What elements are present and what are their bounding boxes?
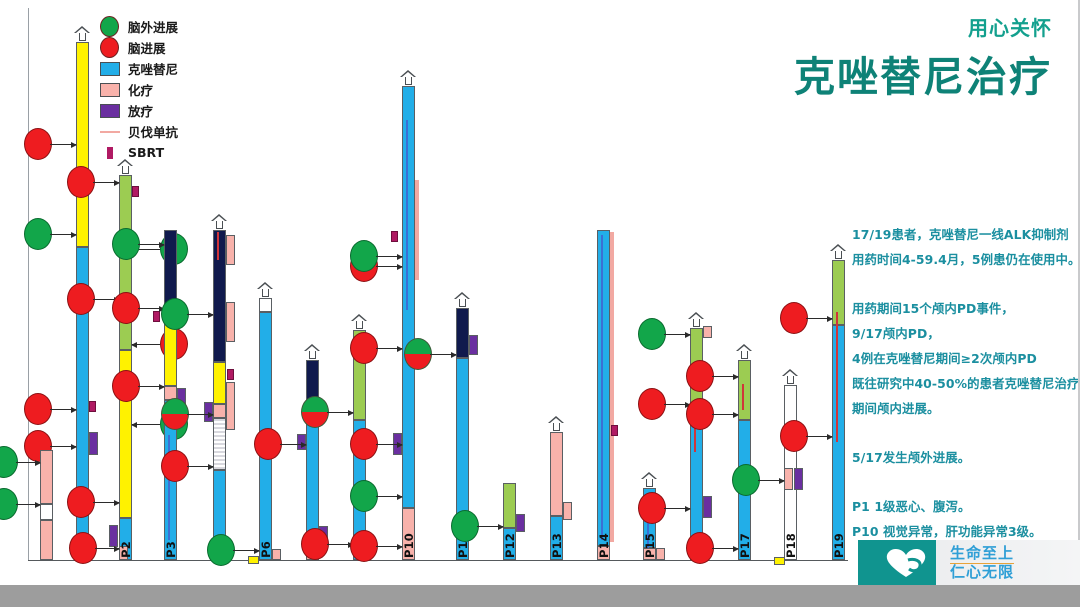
marker-connector [376,256,402,257]
bar-segment-olive [832,260,845,325]
side-chip-purple [89,432,98,455]
progression-marker-red[interactable] [67,283,95,315]
title-block: 用心关怀 克唑替尼治疗 [794,12,1052,103]
note-block: 5/17发生颅外进展。 [852,445,1080,470]
side-chip-pink [226,382,235,430]
marker-connector [50,409,76,410]
marker-connector [376,266,402,267]
progression-marker-red[interactable] [67,486,95,518]
ongoing-arrow-icon [641,472,658,487]
legend-label: SBRT [128,145,164,160]
bar-segment-white [40,504,53,520]
ongoing-arrow-icon [304,344,321,359]
x-axis-tick-label: P12 [503,533,516,558]
bar-segment-pink [40,450,53,504]
sbrt-marker-icon [611,425,618,436]
cyan-swatch-icon [100,62,128,76]
bar-segment-white [259,298,272,312]
note-line: P1 1级恶心、腹泻。 [852,494,1080,519]
bar-segment-pink [213,404,226,418]
slide-title: 克唑替尼治疗 [794,43,1052,103]
progression-marker-red[interactable] [112,370,140,402]
bar-segment-cyan [597,230,610,546]
side-chip-pink [656,548,665,560]
note-gap [852,272,1080,296]
side-chip-pink [703,326,712,338]
progression-marker-red[interactable] [254,428,282,460]
logo-text: 生命至上 仁心无限 [950,545,1014,581]
legend-label: 放疗 [128,101,153,120]
progression-marker-half[interactable] [404,338,432,370]
ongoing-arrow-icon [351,314,368,329]
progression-marker-green[interactable] [350,240,378,272]
legend-item: SBRT [100,142,230,163]
side-chip-thinpink [415,180,419,280]
marker-connector [16,462,40,463]
note-block: P1 1级恶心、腹泻。P10 视觉异常，肝功能异常3级。 [852,494,1080,544]
progression-marker-green[interactable] [350,480,378,512]
progression-marker-red[interactable] [780,302,808,334]
marker-connector [664,334,690,335]
progression-marker-half[interactable] [301,396,329,428]
note-block: 17/19患者，克唑替尼一线ALK抑制剂用药时间4-59.4月，5例患仍在使用中… [852,222,1080,272]
note-line: 既往研究中40-50%的患者克唑替尼治疗 [852,371,1080,396]
heart-swan-glyph [884,547,928,578]
marker-connector [664,404,690,405]
bar-segment-cyan [306,420,319,532]
bar-segment-stripe [213,418,226,470]
note-line: 用药期间15个颅内PD事件， [852,296,1080,321]
marker-connector [806,318,832,319]
marker-connector [93,182,119,183]
progression-marker-green[interactable] [112,228,140,260]
treatment-bar[interactable] [164,230,177,560]
yellow-marker-icon [248,556,259,564]
marker-connector [187,466,213,467]
logo-line-1: 生命至上 [950,545,1014,564]
green-circle-icon [100,16,128,37]
marker-connector [187,414,213,415]
marker-connector [187,314,213,315]
progression-marker-green[interactable] [638,318,666,350]
ongoing-arrow-icon [548,416,565,431]
bar-segment-navy [456,308,469,358]
treatment-bar[interactable] [738,360,751,560]
note-gap [852,421,1080,445]
x-axis-tick-label: P17 [738,533,751,558]
marker-connector [93,502,119,503]
side-chip-pink [563,502,572,520]
progression-marker-green[interactable] [732,464,760,496]
marker-connector [758,480,784,481]
x-axis-tick-label: P13 [550,533,563,558]
note-line: 4例在克唑替尼期间≥2次颅内PD [852,346,1080,371]
ongoing-arrow-icon [400,70,417,85]
progression-marker-red[interactable] [350,428,378,460]
side-chip-blueline [406,120,408,310]
side-chip-thinpink [610,232,614,542]
sbrt-marker-icon [227,369,234,380]
progression-marker-green[interactable] [24,218,52,250]
sbrt-marker-icon [132,186,139,197]
x-axis-tick-label: P14 [597,533,610,558]
logo-heart-icon [858,540,936,585]
marker-connector [16,504,40,505]
annotation-notes: 17/19患者，克唑替尼一线ALK抑制剂用药时间4-59.4月，5例患仍在使用中… [852,222,1080,544]
legend-item: 脑进展 [100,37,230,58]
marker-connector [376,444,402,445]
progression-marker-red[interactable] [67,166,95,198]
side-chip-redline [217,232,219,260]
note-line: 用药时间4-59.4月，5例患仍在使用中。 [852,247,1080,272]
legend-item: 克唑替尼 [100,58,230,79]
side-chip-pink [272,549,281,560]
footer-bar [0,585,1080,607]
note-line: 17/19患者，克唑替尼一线ALK抑制剂 [852,222,1080,247]
marker-connector [138,244,164,245]
x-axis-tick-label: P6 [259,541,272,558]
progression-marker-red[interactable] [686,398,714,430]
progression-marker-red[interactable] [161,450,189,482]
bar-segment-yellow [213,362,226,404]
legend-item: 化疗 [100,79,230,100]
sbrt-marker-icon [391,231,398,242]
progression-marker-red[interactable] [686,532,714,564]
progression-marker-red[interactable] [638,388,666,420]
purple-swatch-icon [100,104,128,118]
marker-connector [430,354,456,355]
legend-label: 脑外进展 [128,17,178,36]
treatment-bar[interactable] [597,230,610,560]
marker-connector [138,308,164,309]
treatment-bar[interactable] [213,230,226,560]
treatment-bar[interactable] [40,450,53,560]
bar-segment-cyan [832,325,845,560]
marker-connector [712,548,738,549]
ongoing-arrow-icon [74,26,91,41]
x-axis-tick-label: P10 [402,533,415,558]
side-chip-purple [703,496,712,518]
presentation-slide: P1P2P3P5P6P7P8P10P11P12P13P14P15P16P17P1… [0,0,1080,607]
marker-connector [132,424,160,425]
marker-connector [50,446,76,447]
marker-connector [327,412,353,413]
bar-segment-olive [738,360,751,420]
x-axis-line [28,560,848,561]
marker-connector [280,444,306,445]
progression-marker-green[interactable] [451,510,479,542]
sbrt-marker-icon [100,147,128,159]
progression-marker-red[interactable] [24,128,52,160]
marker-connector [376,546,402,547]
side-chip-purple [794,468,803,490]
marker-connector [664,508,690,509]
ongoing-arrow-icon [830,244,847,259]
legend-item: 脑外进展 [100,16,230,37]
x-axis-tick-label: P15 [643,533,656,558]
progression-marker-red[interactable] [350,332,378,364]
side-chip-redline [836,312,838,442]
sbrt-marker-icon [89,401,96,412]
side-chip-pink [226,302,235,342]
x-axis-tick-label: P2 [119,541,132,558]
brand-logo: 生命至上 仁心无限 [858,540,1080,585]
bar-segment-pink [550,432,563,516]
marker-connector [50,144,76,145]
marker-connector [95,548,119,549]
yellow-marker-icon [774,557,785,565]
slide-subtitle: 用心关怀 [794,12,1052,41]
bar-segment-navy [213,230,226,362]
side-chip-blueline [601,235,603,540]
side-chip-redline [742,384,744,410]
progression-marker-red[interactable] [686,360,714,392]
sbrt-marker-icon [153,311,160,322]
progression-marker-red[interactable] [24,393,52,425]
marker-connector [50,234,76,235]
progression-marker-red[interactable] [112,292,140,324]
red-circle-icon [100,37,128,58]
note-block: 用药期间15个颅内PD事件，9/17颅内PD，4例在克唑替尼期间≥2次颅内PD既… [852,296,1080,421]
bar-segment-olive [503,483,516,528]
progression-marker-red[interactable] [780,420,808,452]
progression-marker-green[interactable] [161,298,189,330]
legend-label: 贝伐单抗 [128,122,178,141]
ongoing-arrow-icon [454,292,471,307]
bar-segment-pink [40,520,53,560]
note-line: 5/17发生颅外进展。 [852,445,1080,470]
progression-marker-red[interactable] [69,532,97,564]
progression-marker-red[interactable] [638,492,666,524]
pink-line-icon [100,131,128,133]
marker-connector [376,348,402,349]
legend-label: 脑进展 [128,38,166,57]
ongoing-arrow-icon [736,344,753,359]
progression-marker-red[interactable] [350,530,378,562]
pink-swatch-icon [100,83,128,97]
x-axis-tick-label: P19 [832,533,845,558]
progression-marker-green[interactable] [207,534,235,566]
legend-item: 贝伐单抗 [100,121,230,142]
marker-connector [712,376,738,377]
ongoing-arrow-icon [211,214,228,229]
legend-label: 化疗 [128,80,153,99]
chart-legend: 脑外进展脑进展克唑替尼化疗放疗贝伐单抗SBRT [100,16,230,163]
side-chip-purple [469,335,478,355]
marker-connector [376,496,402,497]
ongoing-arrow-icon [782,369,799,384]
side-chip-pink [784,468,793,490]
note-line: 9/17颅内PD， [852,321,1080,346]
treatment-bar[interactable] [832,260,845,560]
x-axis-tick-label: P18 [784,533,797,558]
ongoing-arrow-icon [257,282,274,297]
bar-segment-cyan [402,86,415,508]
marker-connector [132,344,160,345]
x-axis-tick-label: P3 [164,541,177,558]
bar-segment-yellow [76,42,89,247]
progression-marker-half[interactable] [161,398,189,430]
marker-connector [712,414,738,415]
marker-connector [477,526,503,527]
treatment-bar[interactable] [402,86,415,560]
marker-connector [806,436,832,437]
logo-line-2: 仁心无限 [950,564,1014,581]
note-gap [852,470,1080,494]
progression-marker-red[interactable] [301,528,329,560]
side-chip-pink [226,235,235,265]
legend-item: 放疗 [100,100,230,121]
marker-connector [233,550,259,551]
side-chip-purple [516,514,525,532]
note-line: 期间颅内进展。 [852,396,1080,421]
ongoing-arrow-icon [688,312,705,327]
marker-connector [138,386,164,387]
legend-label: 克唑替尼 [128,59,178,78]
side-chip-purple [109,525,118,547]
